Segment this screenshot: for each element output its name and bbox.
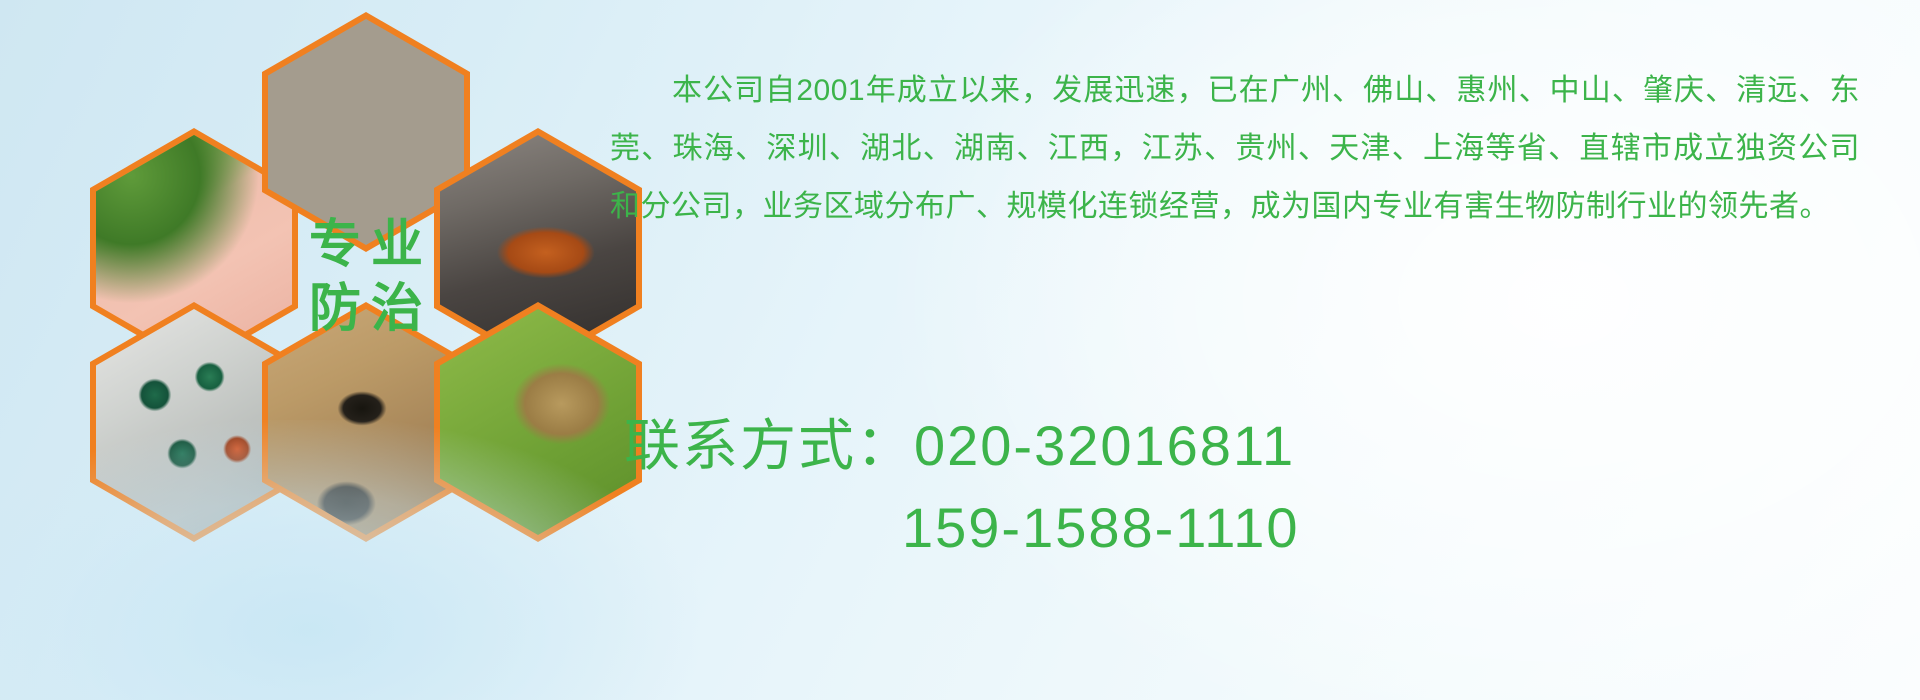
contact-block: 联系方式：020-32016811 159-1588-1110 xyxy=(610,405,1890,569)
company-intro-block: 本公司自2001年成立以来，发展迅速，已在广州、佛山、惠州、中山、肇庆、清远、东… xyxy=(610,32,1880,266)
company-intro-paragraph: 本公司自2001年成立以来，发展迅速，已在广州、佛山、惠州、中山、肇庆、清远、东… xyxy=(610,62,1860,236)
promo-banner: 专业 防治 本公司自2001年成立以来，发展迅速，已在广州、佛山、惠州、中山、肇… xyxy=(0,0,1920,700)
contact-line-mobile[interactable]: 159-1588-1110 xyxy=(610,487,1890,569)
badge-line-2: 防治 xyxy=(299,283,433,335)
honeycomb-gallery: 专业 防治 xyxy=(90,0,610,580)
badge-line-1: 专业 xyxy=(299,219,433,271)
badge-professional-control: 专业 防治 xyxy=(262,157,470,397)
contact-line-primary[interactable]: 联系方式：020-32016811 xyxy=(610,405,1890,487)
